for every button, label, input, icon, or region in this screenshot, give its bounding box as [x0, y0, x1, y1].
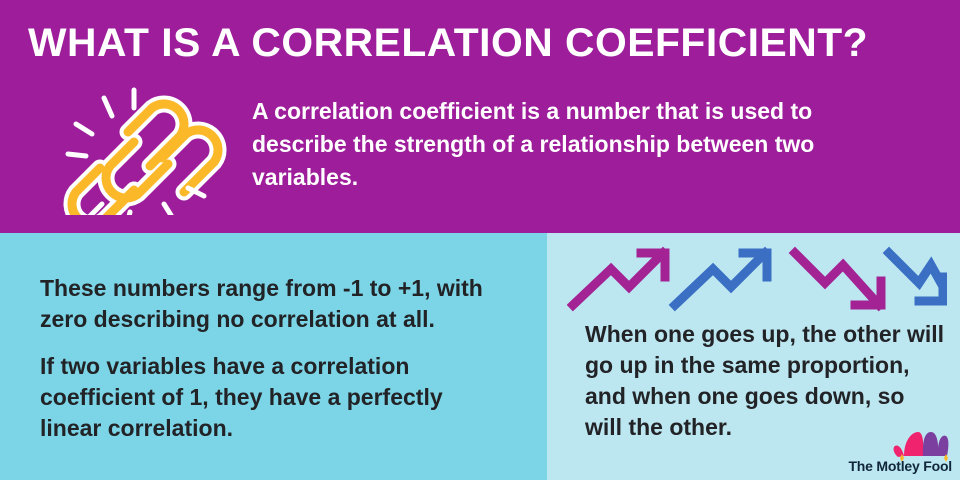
trend-down-arrow-blue	[889, 253, 943, 301]
trend-up-arrow-blue	[675, 253, 767, 305]
trend-up-arrow-magenta	[573, 253, 665, 305]
header-section: WHAT IS A CORRELATION COEFFICIENT?	[0, 0, 960, 233]
chain-links-icon	[38, 80, 228, 215]
logo-text: The Motley Fool	[848, 458, 952, 474]
right-paragraph: When one goes up, the other will go up i…	[585, 319, 945, 443]
page-title: WHAT IS A CORRELATION COEFFICIENT?	[28, 20, 946, 66]
infographic-root: WHAT IS A CORRELATION COEFFICIENT?	[0, 0, 960, 480]
trend-arrows-group	[567, 243, 947, 315]
left-paragraph-2: If two variables have a correlation coef…	[40, 351, 490, 444]
right-panel: When one goes up, the other will go up i…	[547, 233, 960, 480]
trend-down-arrow-magenta	[795, 253, 881, 305]
header-description: A correlation coefficient is a number th…	[252, 95, 902, 194]
left-panel: These numbers range from -1 to +1, with …	[0, 233, 547, 480]
left-paragraph-1: These numbers range from -1 to +1, with …	[40, 273, 520, 335]
